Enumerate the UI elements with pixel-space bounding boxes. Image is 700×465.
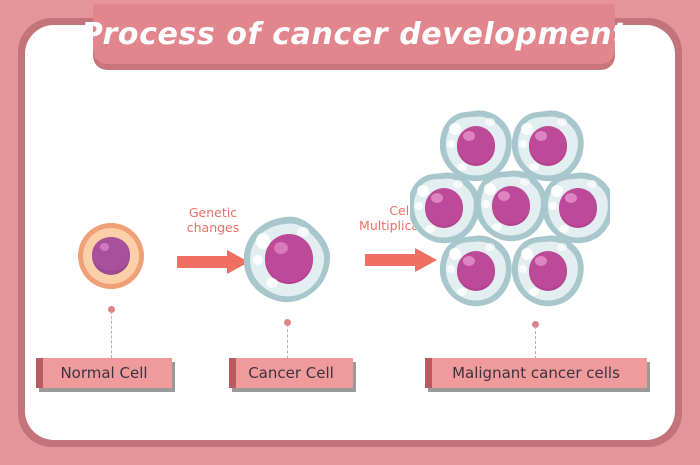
- normal-cell-nucleolus-highlight: [100, 243, 109, 251]
- caption-label: Normal Cell: [43, 364, 172, 382]
- caption-label: Cancer Cell: [236, 364, 353, 382]
- connector-dashed-line: [111, 311, 112, 363]
- caption-label: Malignant cancer cells: [432, 364, 647, 382]
- normal-cell-nucleus-highlight-layer: [92, 237, 130, 271]
- cancer-cell-vacuole-4: [297, 227, 309, 237]
- caption-malignant-cancer-cells: Malignant cancer cells: [425, 358, 647, 388]
- caption-body: Cancer Cell: [229, 358, 353, 388]
- caption-body: Normal Cell: [36, 358, 172, 388]
- cancer-cell-vacuole-1: [256, 233, 270, 249]
- caption-cancer-cell: Cancer Cell: [229, 358, 353, 388]
- malignant-cell-bottom-left: [440, 236, 512, 307]
- cancer-cell-nucleus-top: [265, 234, 313, 282]
- malignant-cell-cluster-graphic: [410, 110, 610, 315]
- malignant-cell-middle-right: [542, 173, 610, 244]
- malignant-cell-bottom-right: [512, 236, 584, 307]
- caption-body: Malignant cancer cells: [425, 358, 647, 388]
- normal-cell-graphic: [78, 223, 144, 289]
- malignant-cell-middle-left: [410, 173, 480, 244]
- cancer-cell-vacuole-3: [266, 278, 278, 288]
- malignant-cell-center: [475, 171, 547, 242]
- cancer-cell-vacuole-2: [253, 255, 263, 265]
- cancer-cell-graphic: [241, 215, 333, 305]
- malignant-cell-top-right: [512, 111, 584, 182]
- malignant-cell-top-left: [440, 111, 512, 182]
- caption-accent-bar: [229, 358, 236, 388]
- poster-root: Process of cancer development Genetic ch…: [0, 0, 700, 465]
- diagram-stage: Genetic changes Cell M: [25, 25, 675, 440]
- cancer-cell-nucleolus: [274, 242, 288, 254]
- caption-accent-bar: [425, 358, 432, 388]
- caption-accent-bar: [36, 358, 43, 388]
- caption-normal-cell: Normal Cell: [36, 358, 172, 388]
- arrow-genetic-changes-icon: [177, 249, 249, 275]
